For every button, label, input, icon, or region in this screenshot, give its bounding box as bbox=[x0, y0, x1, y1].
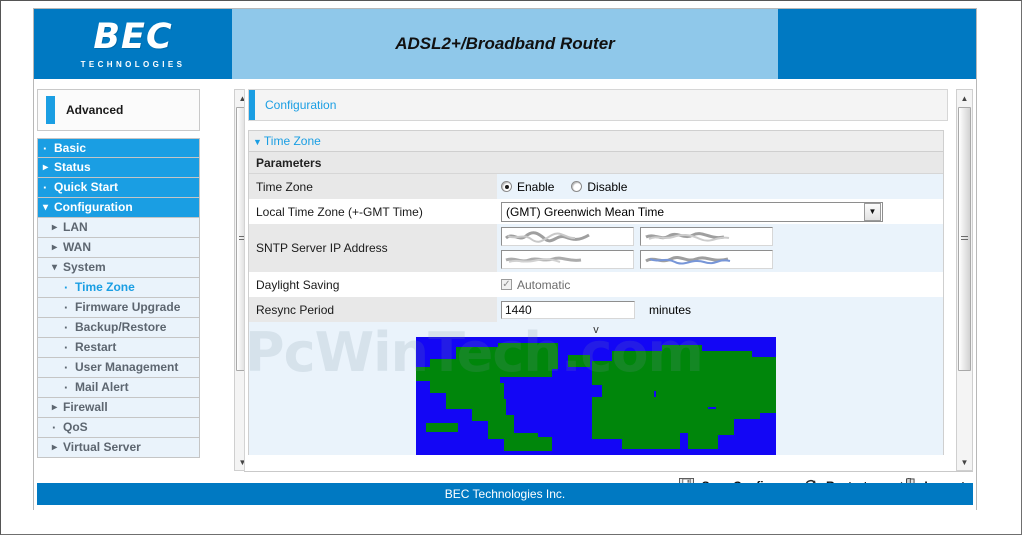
chevron-down-icon[interactable]: ▼ bbox=[864, 203, 881, 221]
chevron-down-icon: ▾ bbox=[43, 198, 54, 217]
masthead: BEC TECHNOLOGIES ADSL2+/Broadband Router bbox=[34, 9, 976, 79]
row-time-zone: Time Zone Enable Disable bbox=[249, 174, 943, 199]
daylight-saving-checkbox[interactable]: ✓ bbox=[501, 279, 512, 290]
sntp-input-1[interactable] bbox=[501, 227, 634, 246]
radio-disable[interactable]: Disable bbox=[571, 180, 627, 194]
sidebar-item-label: WAN bbox=[63, 238, 91, 257]
sidebar-item-label: System bbox=[63, 258, 106, 277]
bec-logo: BEC TECHNOLOGIES bbox=[34, 9, 232, 79]
radio-disable-icon[interactable] bbox=[571, 181, 582, 192]
radio-enable-label: Enable bbox=[517, 180, 554, 194]
panel-title-label: Time Zone bbox=[264, 134, 321, 148]
sidebar-item-label: Restart bbox=[75, 338, 116, 357]
resync-period-unit: minutes bbox=[649, 303, 691, 317]
row-daylight-saving: Daylight Saving ✓ Automatic bbox=[249, 272, 943, 297]
router-admin-page: BEC TECHNOLOGIES ADSL2+/Broadband Router… bbox=[33, 8, 977, 510]
scrollbar-grip-icon bbox=[961, 236, 968, 242]
breadcrumb: Configuration bbox=[248, 89, 948, 121]
bullet-icon: · bbox=[52, 418, 63, 437]
sidebar-item-system[interactable]: ▾System bbox=[37, 258, 200, 278]
sidebar-item-qos[interactable]: ·QoS bbox=[37, 418, 200, 438]
scroll-down-icon[interactable]: ▼ bbox=[957, 454, 972, 470]
sidebar: Advanced ·Basic▸Status·Quick Start▾Confi… bbox=[37, 89, 219, 471]
radio-disable-label: Disable bbox=[587, 180, 627, 194]
sidebar-item-label: LAN bbox=[63, 218, 88, 237]
sidebar-item-lan[interactable]: ▸LAN bbox=[37, 218, 200, 238]
page-title: ADSL2+/Broadband Router bbox=[395, 34, 615, 54]
panel-subtitle: Parameters bbox=[249, 152, 943, 174]
daylight-saving-checkbox-label: Automatic bbox=[517, 278, 570, 292]
bullet-icon: · bbox=[43, 139, 54, 158]
row-resync-period: Resync Period 1440 minutes bbox=[249, 297, 943, 322]
sidebar-item-label: Quick Start bbox=[54, 178, 118, 197]
row-daylight-saving-label: Daylight Saving bbox=[249, 272, 497, 297]
logo-wordmark: BEC bbox=[93, 20, 172, 55]
sidebar-item-configuration[interactable]: ▾Configuration bbox=[37, 198, 200, 218]
sidebar-item-label: Configuration bbox=[54, 198, 133, 217]
sntp-input-2[interactable] bbox=[640, 227, 773, 246]
world-map-section: v bbox=[249, 322, 943, 455]
redaction-scribble-icon bbox=[644, 231, 736, 243]
chevron-right-icon: ▸ bbox=[52, 218, 63, 237]
row-local-time-zone: Local Time Zone (+-GMT Time) (GMT) Green… bbox=[249, 199, 943, 224]
sidebar-item-label: Mail Alert bbox=[75, 378, 129, 397]
bullet-icon: · bbox=[64, 378, 75, 397]
sidebar-item-backup-restore[interactable]: ·Backup/Restore bbox=[37, 318, 200, 338]
product-title-band: ADSL2+/Broadband Router bbox=[232, 9, 778, 79]
row-time-zone-label: Time Zone bbox=[249, 174, 497, 199]
sidebar-item-wan[interactable]: ▸WAN bbox=[37, 238, 200, 258]
panel-title[interactable]: ▼Time Zone bbox=[249, 131, 943, 152]
sidebar-item-time-zone[interactable]: ·Time Zone bbox=[37, 278, 200, 298]
chevron-right-icon: ▸ bbox=[52, 398, 63, 417]
breadcrumb-accent bbox=[249, 90, 255, 120]
sidebar-item-user-management[interactable]: ·User Management bbox=[37, 358, 200, 378]
local-time-zone-value: (GMT) Greenwich Mean Time bbox=[506, 205, 664, 219]
radio-enable-icon[interactable] bbox=[501, 181, 512, 192]
main-scrollbar-thumb[interactable] bbox=[958, 107, 971, 371]
bullet-icon: · bbox=[64, 358, 75, 377]
sidebar-item-label: Basic bbox=[54, 139, 86, 158]
chevron-right-icon: ▸ bbox=[52, 438, 63, 457]
bullet-icon: · bbox=[64, 318, 75, 337]
sidebar-item-label: Backup/Restore bbox=[75, 318, 166, 337]
scroll-up-icon[interactable]: ▲ bbox=[957, 90, 972, 106]
resync-period-input[interactable]: 1440 bbox=[501, 301, 635, 319]
bullet-icon: · bbox=[64, 338, 75, 357]
breadcrumb-label: Configuration bbox=[265, 98, 336, 112]
sidebar-item-label: User Management bbox=[75, 358, 178, 377]
redaction-scribble-icon bbox=[505, 254, 597, 266]
logo-tagline: TECHNOLOGIES bbox=[81, 60, 186, 69]
sidebar-menu: ·Basic▸Status·Quick Start▾Configuration▸… bbox=[37, 138, 200, 458]
sidebar-item-label: Status bbox=[54, 158, 91, 177]
world-map-image[interactable] bbox=[416, 337, 776, 455]
sidebar-item-label: QoS bbox=[63, 418, 88, 437]
sidebar-item-status[interactable]: ▸Status bbox=[37, 158, 200, 178]
sidebar-item-firmware-upgrade[interactable]: ·Firmware Upgrade bbox=[37, 298, 200, 318]
sntp-input-4[interactable] bbox=[640, 250, 773, 269]
bullet-icon: · bbox=[64, 298, 75, 317]
sidebar-item-label: Time Zone bbox=[75, 278, 135, 297]
time-zone-panel: ▼Time Zone Parameters Time Zone Enable bbox=[248, 130, 944, 455]
sidebar-header-label: Advanced bbox=[66, 103, 123, 117]
sntp-input-3[interactable] bbox=[501, 250, 634, 269]
main-content: Configuration ▼Time Zone Parameters Time… bbox=[244, 89, 954, 471]
row-sntp-server-label: SNTP Server IP Address bbox=[249, 224, 497, 272]
sidebar-item-virtual-server[interactable]: ▸Virtual Server bbox=[37, 438, 200, 458]
body-area: Advanced ·Basic▸Status·Quick Start▾Confi… bbox=[34, 79, 976, 511]
row-resync-period-label: Resync Period bbox=[249, 297, 497, 322]
footer: BEC Technologies Inc. bbox=[37, 483, 973, 505]
chevron-down-icon: ▼ bbox=[253, 137, 262, 147]
sidebar-item-label: Firmware Upgrade bbox=[75, 298, 180, 317]
sidebar-item-label: Virtual Server bbox=[63, 438, 141, 457]
redaction-scribble-icon bbox=[644, 254, 736, 266]
sidebar-item-mail-alert[interactable]: ·Mail Alert bbox=[37, 378, 200, 398]
sntp-input-grid bbox=[501, 224, 773, 272]
chevron-right-icon: ▸ bbox=[43, 158, 54, 177]
bullet-icon: · bbox=[64, 278, 75, 297]
row-sntp-server: SNTP Server IP Address bbox=[249, 224, 943, 272]
sidebar-item-restart[interactable]: ·Restart bbox=[37, 338, 200, 358]
local-time-zone-select[interactable]: (GMT) Greenwich Mean Time ▼ bbox=[501, 202, 883, 222]
bullet-icon: · bbox=[43, 178, 54, 197]
chevron-down-icon: ▾ bbox=[52, 258, 63, 277]
row-local-time-zone-label: Local Time Zone (+-GMT Time) bbox=[249, 199, 497, 224]
sidebar-item-label: Firewall bbox=[63, 398, 108, 417]
map-caret-label: v bbox=[593, 324, 599, 337]
sidebar-item-quick-start[interactable]: ·Quick Start bbox=[37, 178, 200, 198]
chevron-right-icon: ▸ bbox=[52, 238, 63, 257]
sidebar-item-firewall[interactable]: ▸Firewall bbox=[37, 398, 200, 418]
radio-enable[interactable]: Enable bbox=[501, 180, 554, 194]
sidebar-header-accent bbox=[46, 96, 55, 124]
main-scrollbar[interactable]: ▲ ▼ bbox=[956, 89, 973, 471]
sidebar-item-basic[interactable]: ·Basic bbox=[37, 138, 200, 158]
sidebar-header: Advanced bbox=[37, 89, 200, 131]
redaction-scribble-icon bbox=[505, 231, 597, 243]
time-zone-radio-group: Enable Disable bbox=[501, 180, 627, 194]
